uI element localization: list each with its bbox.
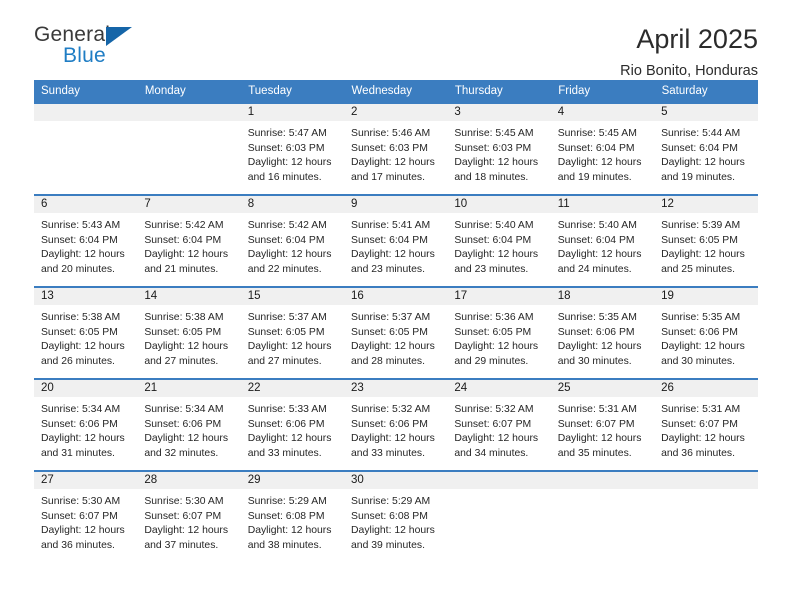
day-details: Sunrise: 5:45 AMSunset: 6:04 PMDaylight:… xyxy=(551,121,654,185)
day-number: 17 xyxy=(447,288,550,305)
day-details: Sunrise: 5:47 AMSunset: 6:03 PMDaylight:… xyxy=(241,121,344,185)
day-sunrise-text: Sunrise: 5:30 AM xyxy=(41,495,132,510)
day-sunset-text: Sunset: 6:07 PM xyxy=(558,418,649,433)
day-daylight1-text: Daylight: 12 hours xyxy=(144,524,235,539)
day-daylight2-text: and 31 minutes. xyxy=(41,447,132,462)
day-daylight2-text: and 33 minutes. xyxy=(351,447,442,462)
brand-name-blue: Blue xyxy=(63,46,154,66)
day-sunset-text: Sunset: 6:04 PM xyxy=(454,234,545,249)
page-title: April 2025 xyxy=(620,24,758,54)
day-daylight2-text: and 23 minutes. xyxy=(454,263,545,278)
day-daylight1-text: Daylight: 12 hours xyxy=(558,156,649,171)
calendar-day-cell[interactable]: 2Sunrise: 5:46 AMSunset: 6:03 PMDaylight… xyxy=(344,103,447,195)
day-daylight1-text: Daylight: 12 hours xyxy=(558,248,649,263)
day-sunset-text: Sunset: 6:04 PM xyxy=(558,234,649,249)
day-sunset-text: Sunset: 6:04 PM xyxy=(248,234,339,249)
day-number: 13 xyxy=(34,288,137,305)
page-subtitle: Rio Bonito, Honduras xyxy=(620,63,758,80)
day-number: 1 xyxy=(241,104,344,121)
day-daylight1-text: Daylight: 12 hours xyxy=(351,524,442,539)
day-sunrise-text: Sunrise: 5:37 AM xyxy=(351,311,442,326)
day-details: Sunrise: 5:46 AMSunset: 6:03 PMDaylight:… xyxy=(344,121,447,185)
day-number: 11 xyxy=(551,196,654,213)
calendar-day-cell[interactable]: 13Sunrise: 5:38 AMSunset: 6:05 PMDayligh… xyxy=(34,287,137,379)
day-number: 25 xyxy=(551,380,654,397)
day-details: Sunrise: 5:42 AMSunset: 6:04 PMDaylight:… xyxy=(137,213,240,277)
calendar-table: Sunday Monday Tuesday Wednesday Thursday… xyxy=(34,80,758,562)
calendar-day-cell[interactable]: 17Sunrise: 5:36 AMSunset: 6:05 PMDayligh… xyxy=(447,287,550,379)
calendar-day-cell[interactable]: 8Sunrise: 5:42 AMSunset: 6:04 PMDaylight… xyxy=(241,195,344,287)
weekday-header-saturday: Saturday xyxy=(654,80,757,103)
day-sunrise-text: Sunrise: 5:41 AM xyxy=(351,219,442,234)
day-sunset-text: Sunset: 6:08 PM xyxy=(351,510,442,525)
calendar-day-cell[interactable]: 18Sunrise: 5:35 AMSunset: 6:06 PMDayligh… xyxy=(551,287,654,379)
calendar-day-cell[interactable]: 6Sunrise: 5:43 AMSunset: 6:04 PMDaylight… xyxy=(34,195,137,287)
day-number: 8 xyxy=(241,196,344,213)
day-daylight2-text: and 17 minutes. xyxy=(351,171,442,186)
day-number xyxy=(34,104,137,121)
day-details: Sunrise: 5:33 AMSunset: 6:06 PMDaylight:… xyxy=(241,397,344,461)
day-number: 9 xyxy=(344,196,447,213)
day-number: 12 xyxy=(654,196,757,213)
day-sunrise-text: Sunrise: 5:32 AM xyxy=(351,403,442,418)
calendar-day-cell[interactable]: 22Sunrise: 5:33 AMSunset: 6:06 PMDayligh… xyxy=(241,379,344,471)
calendar-day-cell-empty xyxy=(137,103,240,195)
day-number: 22 xyxy=(241,380,344,397)
calendar-day-cell[interactable]: 4Sunrise: 5:45 AMSunset: 6:04 PMDaylight… xyxy=(551,103,654,195)
day-number xyxy=(551,472,654,489)
day-sunrise-text: Sunrise: 5:40 AM xyxy=(558,219,649,234)
day-sunrise-text: Sunrise: 5:45 AM xyxy=(558,127,649,142)
day-sunset-text: Sunset: 6:03 PM xyxy=(351,142,442,157)
day-sunset-text: Sunset: 6:03 PM xyxy=(454,142,545,157)
day-daylight2-text: and 27 minutes. xyxy=(248,355,339,370)
day-daylight2-text: and 30 minutes. xyxy=(661,355,752,370)
weekday-header-sunday: Sunday xyxy=(34,80,137,103)
day-daylight1-text: Daylight: 12 hours xyxy=(454,432,545,447)
day-daylight2-text: and 35 minutes. xyxy=(558,447,649,462)
day-daylight2-text: and 29 minutes. xyxy=(454,355,545,370)
day-daylight1-text: Daylight: 12 hours xyxy=(454,248,545,263)
day-details: Sunrise: 5:36 AMSunset: 6:05 PMDaylight:… xyxy=(447,305,550,369)
day-sunset-text: Sunset: 6:07 PM xyxy=(144,510,235,525)
day-daylight2-text: and 22 minutes. xyxy=(248,263,339,278)
day-daylight2-text: and 18 minutes. xyxy=(454,171,545,186)
day-sunset-text: Sunset: 6:04 PM xyxy=(41,234,132,249)
calendar-day-cell[interactable]: 20Sunrise: 5:34 AMSunset: 6:06 PMDayligh… xyxy=(34,379,137,471)
calendar-day-cell[interactable]: 16Sunrise: 5:37 AMSunset: 6:05 PMDayligh… xyxy=(344,287,447,379)
day-sunset-text: Sunset: 6:06 PM xyxy=(351,418,442,433)
day-sunrise-text: Sunrise: 5:29 AM xyxy=(248,495,339,510)
calendar-week-row: 6Sunrise: 5:43 AMSunset: 6:04 PMDaylight… xyxy=(34,195,758,287)
day-details: Sunrise: 5:40 AMSunset: 6:04 PMDaylight:… xyxy=(447,213,550,277)
day-daylight2-text: and 28 minutes. xyxy=(351,355,442,370)
day-sunset-text: Sunset: 6:05 PM xyxy=(454,326,545,341)
day-details: Sunrise: 5:32 AMSunset: 6:06 PMDaylight:… xyxy=(344,397,447,461)
day-daylight1-text: Daylight: 12 hours xyxy=(454,340,545,355)
day-daylight2-text: and 34 minutes. xyxy=(454,447,545,462)
day-daylight1-text: Daylight: 12 hours xyxy=(454,156,545,171)
day-number: 27 xyxy=(34,472,137,489)
day-daylight1-text: Daylight: 12 hours xyxy=(144,340,235,355)
calendar-week-row: 13Sunrise: 5:38 AMSunset: 6:05 PMDayligh… xyxy=(34,287,758,379)
page-header: General Blue April 2025 Rio Bonito, Hond… xyxy=(34,0,758,72)
day-daylight1-text: Daylight: 12 hours xyxy=(351,432,442,447)
day-sunrise-text: Sunrise: 5:34 AM xyxy=(41,403,132,418)
calendar-day-cell[interactable]: 12Sunrise: 5:39 AMSunset: 6:05 PMDayligh… xyxy=(654,195,757,287)
day-daylight1-text: Daylight: 12 hours xyxy=(41,340,132,355)
day-sunrise-text: Sunrise: 5:38 AM xyxy=(144,311,235,326)
day-sunset-text: Sunset: 6:04 PM xyxy=(661,142,752,157)
weekday-header-wednesday: Wednesday xyxy=(344,80,447,103)
day-daylight1-text: Daylight: 12 hours xyxy=(558,340,649,355)
day-sunrise-text: Sunrise: 5:42 AM xyxy=(144,219,235,234)
calendar-day-cell[interactable]: 28Sunrise: 5:30 AMSunset: 6:07 PMDayligh… xyxy=(137,471,240,562)
calendar-day-cell[interactable]: 11Sunrise: 5:40 AMSunset: 6:04 PMDayligh… xyxy=(551,195,654,287)
brand-name-general: General xyxy=(34,24,154,46)
day-details: Sunrise: 5:43 AMSunset: 6:04 PMDaylight:… xyxy=(34,213,137,277)
day-daylight1-text: Daylight: 12 hours xyxy=(661,248,752,263)
day-sunrise-text: Sunrise: 5:35 AM xyxy=(661,311,752,326)
day-sunset-text: Sunset: 6:04 PM xyxy=(351,234,442,249)
day-number xyxy=(654,472,757,489)
calendar-week-row: 27Sunrise: 5:30 AMSunset: 6:07 PMDayligh… xyxy=(34,471,758,562)
day-details: Sunrise: 5:39 AMSunset: 6:05 PMDaylight:… xyxy=(654,213,757,277)
day-sunset-text: Sunset: 6:08 PM xyxy=(248,510,339,525)
weekday-header-thursday: Thursday xyxy=(447,80,550,103)
calendar-day-cell[interactable]: 7Sunrise: 5:42 AMSunset: 6:04 PMDaylight… xyxy=(137,195,240,287)
day-sunset-text: Sunset: 6:04 PM xyxy=(144,234,235,249)
day-daylight2-text: and 19 minutes. xyxy=(558,171,649,186)
day-daylight2-text: and 33 minutes. xyxy=(248,447,339,462)
day-sunset-text: Sunset: 6:05 PM xyxy=(144,326,235,341)
day-daylight1-text: Daylight: 12 hours xyxy=(661,340,752,355)
day-number: 7 xyxy=(137,196,240,213)
day-details: Sunrise: 5:45 AMSunset: 6:03 PMDaylight:… xyxy=(447,121,550,185)
day-sunrise-text: Sunrise: 5:34 AM xyxy=(144,403,235,418)
day-sunrise-text: Sunrise: 5:29 AM xyxy=(351,495,442,510)
calendar-day-cell[interactable]: 3Sunrise: 5:45 AMSunset: 6:03 PMDaylight… xyxy=(447,103,550,195)
calendar-day-cell-empty xyxy=(551,471,654,562)
day-daylight2-text: and 36 minutes. xyxy=(41,539,132,554)
day-daylight1-text: Daylight: 12 hours xyxy=(661,432,752,447)
day-sunrise-text: Sunrise: 5:31 AM xyxy=(661,403,752,418)
day-sunset-text: Sunset: 6:07 PM xyxy=(661,418,752,433)
day-number: 18 xyxy=(551,288,654,305)
calendar-day-cell[interactable]: 27Sunrise: 5:30 AMSunset: 6:07 PMDayligh… xyxy=(34,471,137,562)
day-number: 26 xyxy=(654,380,757,397)
day-daylight2-text: and 26 minutes. xyxy=(41,355,132,370)
day-sunrise-text: Sunrise: 5:39 AM xyxy=(661,219,752,234)
day-daylight2-text: and 21 minutes. xyxy=(144,263,235,278)
day-daylight1-text: Daylight: 12 hours xyxy=(558,432,649,447)
day-daylight2-text: and 37 minutes. xyxy=(144,539,235,554)
brand-logo[interactable]: General Blue xyxy=(34,24,154,72)
day-details: Sunrise: 5:29 AMSunset: 6:08 PMDaylight:… xyxy=(241,489,344,553)
day-number: 20 xyxy=(34,380,137,397)
blue-flag-triangle-icon xyxy=(106,27,132,46)
day-sunset-text: Sunset: 6:03 PM xyxy=(248,142,339,157)
day-sunset-text: Sunset: 6:06 PM xyxy=(248,418,339,433)
calendar-day-cell[interactable]: 23Sunrise: 5:32 AMSunset: 6:06 PMDayligh… xyxy=(344,379,447,471)
day-number xyxy=(137,104,240,121)
day-number: 4 xyxy=(551,104,654,121)
day-sunrise-text: Sunrise: 5:33 AM xyxy=(248,403,339,418)
day-daylight2-text: and 23 minutes. xyxy=(351,263,442,278)
day-number: 24 xyxy=(447,380,550,397)
day-number: 5 xyxy=(654,104,757,121)
title-block: April 2025 Rio Bonito, Honduras xyxy=(620,24,758,80)
day-sunrise-text: Sunrise: 5:37 AM xyxy=(248,311,339,326)
calendar-day-cell[interactable]: 15Sunrise: 5:37 AMSunset: 6:05 PMDayligh… xyxy=(241,287,344,379)
day-details: Sunrise: 5:31 AMSunset: 6:07 PMDaylight:… xyxy=(551,397,654,461)
calendar-day-cell-empty xyxy=(654,471,757,562)
day-sunset-text: Sunset: 6:04 PM xyxy=(558,142,649,157)
day-details: Sunrise: 5:34 AMSunset: 6:06 PMDaylight:… xyxy=(137,397,240,461)
day-daylight2-text: and 24 minutes. xyxy=(558,263,649,278)
day-daylight1-text: Daylight: 12 hours xyxy=(41,432,132,447)
day-sunrise-text: Sunrise: 5:44 AM xyxy=(661,127,752,142)
calendar-week-row: 1Sunrise: 5:47 AMSunset: 6:03 PMDaylight… xyxy=(34,103,758,195)
day-sunrise-text: Sunrise: 5:36 AM xyxy=(454,311,545,326)
day-details: Sunrise: 5:32 AMSunset: 6:07 PMDaylight:… xyxy=(447,397,550,461)
calendar-head: Sunday Monday Tuesday Wednesday Thursday… xyxy=(34,80,758,103)
calendar-day-cell[interactable]: 25Sunrise: 5:31 AMSunset: 6:07 PMDayligh… xyxy=(551,379,654,471)
day-details: Sunrise: 5:29 AMSunset: 6:08 PMDaylight:… xyxy=(344,489,447,553)
day-sunrise-text: Sunrise: 5:40 AM xyxy=(454,219,545,234)
day-daylight1-text: Daylight: 12 hours xyxy=(661,156,752,171)
day-daylight1-text: Daylight: 12 hours xyxy=(351,248,442,263)
calendar-day-cell[interactable]: 14Sunrise: 5:38 AMSunset: 6:05 PMDayligh… xyxy=(137,287,240,379)
day-number: 3 xyxy=(447,104,550,121)
day-details: Sunrise: 5:41 AMSunset: 6:04 PMDaylight:… xyxy=(344,213,447,277)
day-details: Sunrise: 5:37 AMSunset: 6:05 PMDaylight:… xyxy=(241,305,344,369)
day-daylight2-text: and 19 minutes. xyxy=(661,171,752,186)
calendar-day-cell[interactable]: 5Sunrise: 5:44 AMSunset: 6:04 PMDaylight… xyxy=(654,103,757,195)
day-number: 23 xyxy=(344,380,447,397)
day-number: 10 xyxy=(447,196,550,213)
day-details: Sunrise: 5:35 AMSunset: 6:06 PMDaylight:… xyxy=(654,305,757,369)
calendar-day-cell[interactable]: 29Sunrise: 5:29 AMSunset: 6:08 PMDayligh… xyxy=(241,471,344,562)
calendar-day-cell[interactable]: 26Sunrise: 5:31 AMSunset: 6:07 PMDayligh… xyxy=(654,379,757,471)
day-details: Sunrise: 5:44 AMSunset: 6:04 PMDaylight:… xyxy=(654,121,757,185)
day-number: 30 xyxy=(344,472,447,489)
calendar-day-cell[interactable]: 19Sunrise: 5:35 AMSunset: 6:06 PMDayligh… xyxy=(654,287,757,379)
day-details: Sunrise: 5:35 AMSunset: 6:06 PMDaylight:… xyxy=(551,305,654,369)
day-daylight1-text: Daylight: 12 hours xyxy=(248,248,339,263)
day-daylight1-text: Daylight: 12 hours xyxy=(144,432,235,447)
day-details: Sunrise: 5:38 AMSunset: 6:05 PMDaylight:… xyxy=(137,305,240,369)
day-daylight1-text: Daylight: 12 hours xyxy=(351,340,442,355)
day-number: 2 xyxy=(344,104,447,121)
day-number: 28 xyxy=(137,472,240,489)
day-sunrise-text: Sunrise: 5:46 AM xyxy=(351,127,442,142)
day-daylight1-text: Daylight: 12 hours xyxy=(248,432,339,447)
day-sunset-text: Sunset: 6:06 PM xyxy=(41,418,132,433)
day-daylight2-text: and 36 minutes. xyxy=(661,447,752,462)
day-number: 14 xyxy=(137,288,240,305)
day-number: 6 xyxy=(34,196,137,213)
day-daylight2-text: and 27 minutes. xyxy=(144,355,235,370)
calendar-day-cell-empty xyxy=(447,471,550,562)
day-sunset-text: Sunset: 6:07 PM xyxy=(41,510,132,525)
day-sunrise-text: Sunrise: 5:30 AM xyxy=(144,495,235,510)
day-sunset-text: Sunset: 6:07 PM xyxy=(454,418,545,433)
day-sunset-text: Sunset: 6:05 PM xyxy=(661,234,752,249)
day-details: Sunrise: 5:34 AMSunset: 6:06 PMDaylight:… xyxy=(34,397,137,461)
day-sunrise-text: Sunrise: 5:38 AM xyxy=(41,311,132,326)
day-sunset-text: Sunset: 6:05 PM xyxy=(248,326,339,341)
calendar-day-cell[interactable]: 24Sunrise: 5:32 AMSunset: 6:07 PMDayligh… xyxy=(447,379,550,471)
weekday-header-friday: Friday xyxy=(551,80,654,103)
day-details: Sunrise: 5:40 AMSunset: 6:04 PMDaylight:… xyxy=(551,213,654,277)
day-sunset-text: Sunset: 6:06 PM xyxy=(558,326,649,341)
day-daylight1-text: Daylight: 12 hours xyxy=(248,340,339,355)
day-details: Sunrise: 5:30 AMSunset: 6:07 PMDaylight:… xyxy=(34,489,137,553)
day-daylight1-text: Daylight: 12 hours xyxy=(248,156,339,171)
day-details: Sunrise: 5:30 AMSunset: 6:07 PMDaylight:… xyxy=(137,489,240,553)
day-sunrise-text: Sunrise: 5:45 AM xyxy=(454,127,545,142)
day-daylight1-text: Daylight: 12 hours xyxy=(248,524,339,539)
day-sunset-text: Sunset: 6:06 PM xyxy=(144,418,235,433)
day-number: 16 xyxy=(344,288,447,305)
day-sunset-text: Sunset: 6:05 PM xyxy=(41,326,132,341)
day-number: 21 xyxy=(137,380,240,397)
day-daylight2-text: and 32 minutes. xyxy=(144,447,235,462)
day-sunrise-text: Sunrise: 5:43 AM xyxy=(41,219,132,234)
day-sunset-text: Sunset: 6:05 PM xyxy=(351,326,442,341)
day-sunset-text: Sunset: 6:06 PM xyxy=(661,326,752,341)
day-number xyxy=(447,472,550,489)
day-daylight2-text: and 16 minutes. xyxy=(248,171,339,186)
day-number: 15 xyxy=(241,288,344,305)
calendar-day-cell-empty xyxy=(34,103,137,195)
day-daylight2-text: and 25 minutes. xyxy=(661,263,752,278)
day-details: Sunrise: 5:38 AMSunset: 6:05 PMDaylight:… xyxy=(34,305,137,369)
calendar-day-cell[interactable]: 21Sunrise: 5:34 AMSunset: 6:06 PMDayligh… xyxy=(137,379,240,471)
day-daylight1-text: Daylight: 12 hours xyxy=(41,524,132,539)
weekday-header-monday: Monday xyxy=(137,80,240,103)
calendar-day-cell[interactable]: 30Sunrise: 5:29 AMSunset: 6:08 PMDayligh… xyxy=(344,471,447,562)
day-number: 29 xyxy=(241,472,344,489)
day-sunrise-text: Sunrise: 5:47 AM xyxy=(248,127,339,142)
calendar-day-cell[interactable]: 10Sunrise: 5:40 AMSunset: 6:04 PMDayligh… xyxy=(447,195,550,287)
weekday-header-tuesday: Tuesday xyxy=(241,80,344,103)
day-details: Sunrise: 5:42 AMSunset: 6:04 PMDaylight:… xyxy=(241,213,344,277)
day-number: 19 xyxy=(654,288,757,305)
day-details: Sunrise: 5:31 AMSunset: 6:07 PMDaylight:… xyxy=(654,397,757,461)
calendar-week-row: 20Sunrise: 5:34 AMSunset: 6:06 PMDayligh… xyxy=(34,379,758,471)
day-daylight2-text: and 38 minutes. xyxy=(248,539,339,554)
day-daylight1-text: Daylight: 12 hours xyxy=(144,248,235,263)
day-daylight2-text: and 39 minutes. xyxy=(351,539,442,554)
day-details: Sunrise: 5:37 AMSunset: 6:05 PMDaylight:… xyxy=(344,305,447,369)
day-sunrise-text: Sunrise: 5:42 AM xyxy=(248,219,339,234)
calendar-body: 1Sunrise: 5:47 AMSunset: 6:03 PMDaylight… xyxy=(34,103,758,562)
day-sunrise-text: Sunrise: 5:32 AM xyxy=(454,403,545,418)
weekday-header-row: Sunday Monday Tuesday Wednesday Thursday… xyxy=(34,80,758,103)
day-daylight2-text: and 20 minutes. xyxy=(41,263,132,278)
day-daylight1-text: Daylight: 12 hours xyxy=(351,156,442,171)
calendar-day-cell[interactable]: 9Sunrise: 5:41 AMSunset: 6:04 PMDaylight… xyxy=(344,195,447,287)
day-daylight2-text: and 30 minutes. xyxy=(558,355,649,370)
day-sunrise-text: Sunrise: 5:31 AM xyxy=(558,403,649,418)
calendar-page: General Blue April 2025 Rio Bonito, Hond… xyxy=(0,0,792,612)
day-daylight1-text: Daylight: 12 hours xyxy=(41,248,132,263)
calendar-day-cell[interactable]: 1Sunrise: 5:47 AMSunset: 6:03 PMDaylight… xyxy=(241,103,344,195)
day-sunrise-text: Sunrise: 5:35 AM xyxy=(558,311,649,326)
